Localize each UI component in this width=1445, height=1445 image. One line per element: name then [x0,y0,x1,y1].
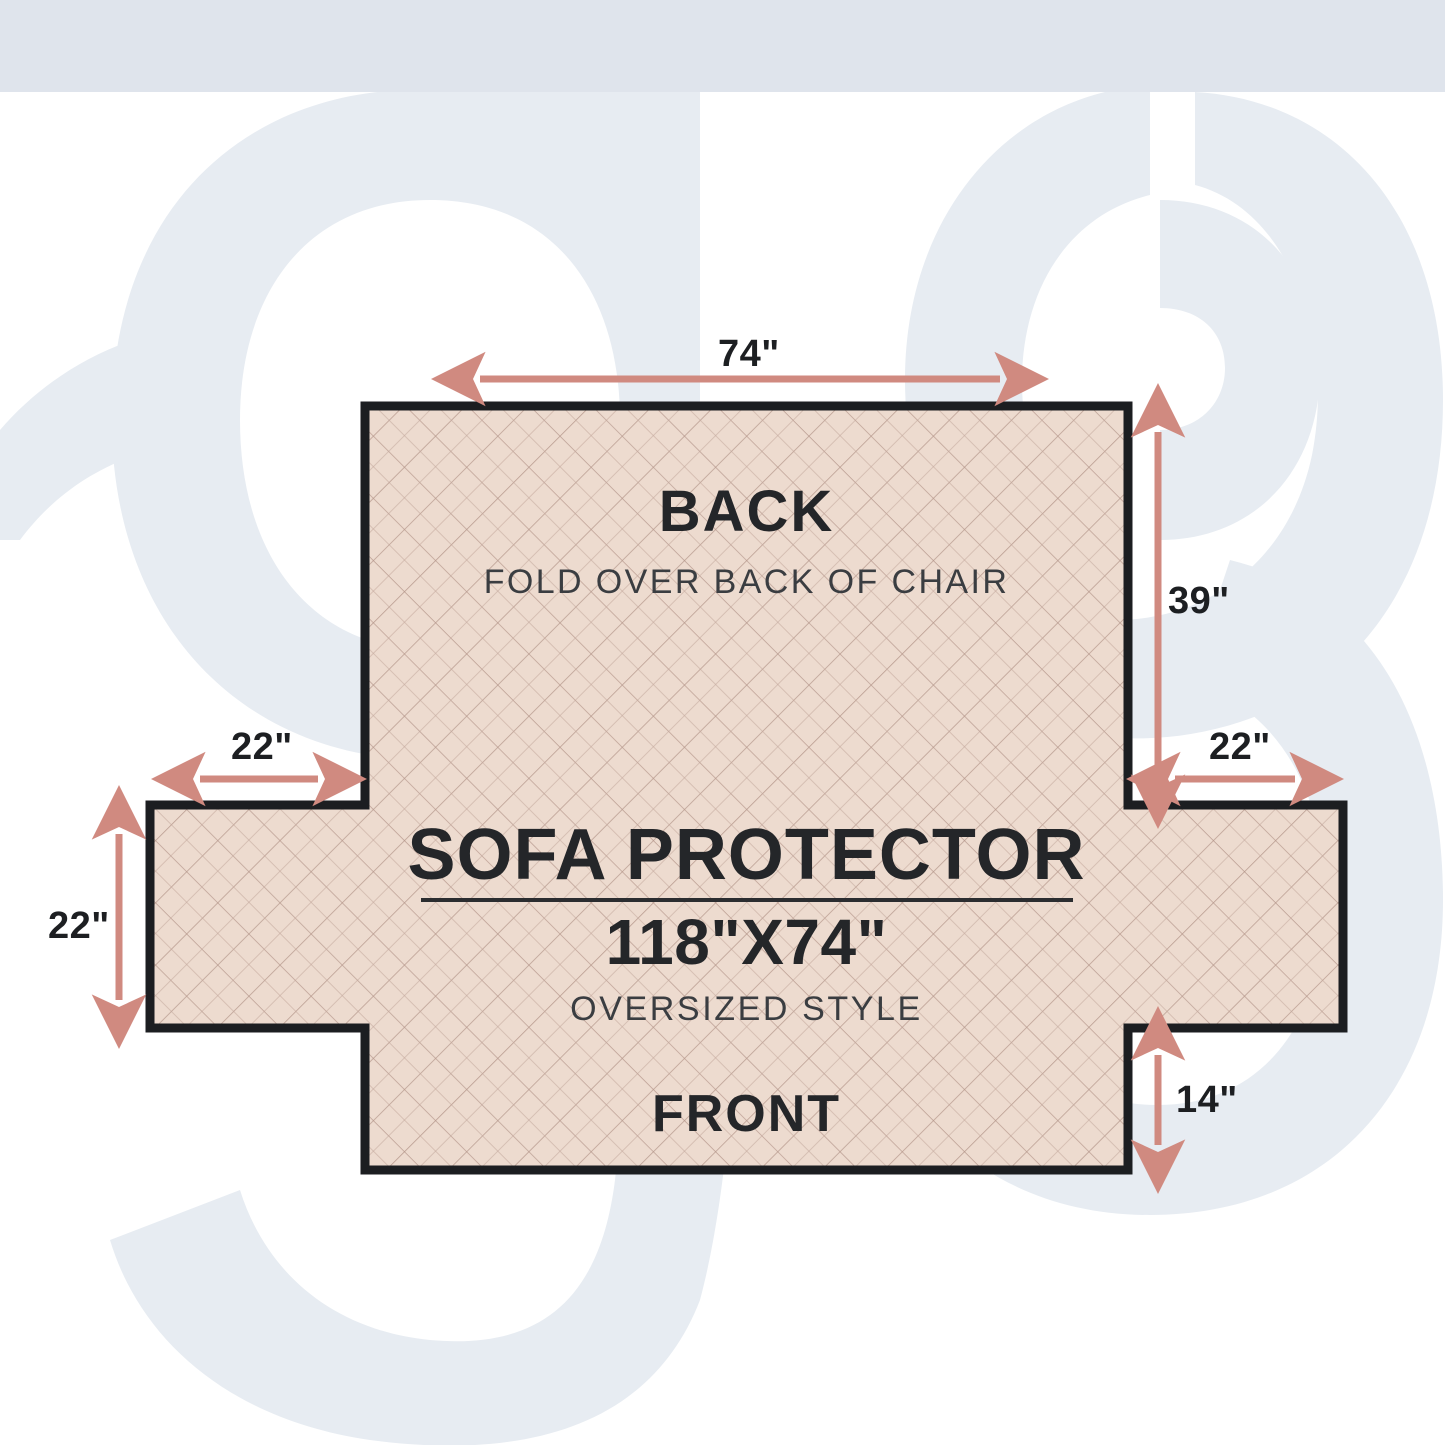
size-guide-canvas: FURNITURE PROTECTOR SIZE GUIDE [0,0,1445,1445]
dimension-label-left-notch: 22" [231,726,293,769]
dimension-label-top-width: 74" [718,333,780,376]
dimension-label-front-flap: 14" [1176,1079,1238,1122]
product-title-block: SOFA PROTECTOR 118"X74" OVERSIZED STYLE [365,818,1128,1032]
dimension-label-right-notch: 22" [1209,726,1271,769]
back-panel-label: BACK [365,482,1128,542]
product-dimensions: 118"X74" [365,906,1128,978]
title-divider [421,898,1073,902]
back-panel-instruction: FOLD OVER BACK OF CHAIR [365,562,1128,602]
front-panel-label: FRONT [365,1085,1128,1143]
dimension-label-back-height: 39" [1168,580,1230,623]
protector-diagram [0,0,1445,1445]
dimension-label-left-arm-height: 22" [48,905,110,948]
product-name: SOFA PROTECTOR [365,818,1128,892]
header-banner [0,0,1445,92]
product-style: OVERSIZED STYLE [365,986,1128,1032]
